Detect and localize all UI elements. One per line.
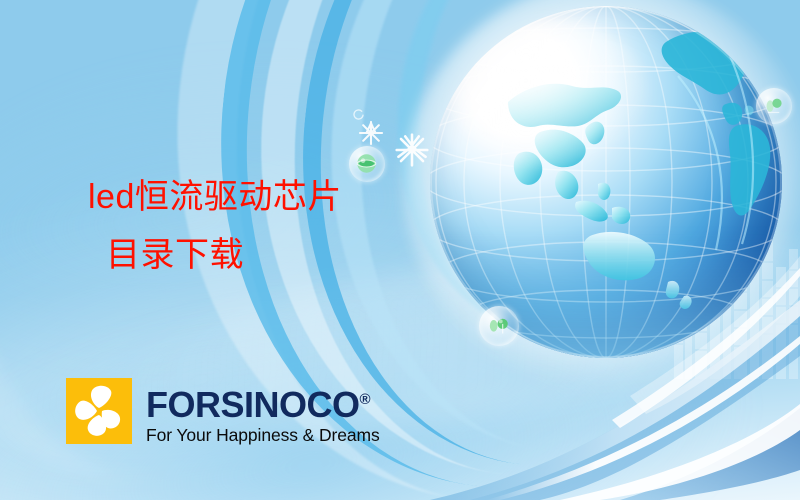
page-title: led恒流驱动芯片 目录下载	[88, 168, 508, 284]
registered-trademark-symbol: ®	[360, 391, 371, 408]
company-name-text: FORSINOCO	[146, 384, 360, 425]
company-logo: FORSINOCO® For Your Happiness & Dreams	[66, 378, 380, 445]
logo-wordmark: FORSINOCO® For Your Happiness & Dreams	[146, 378, 380, 445]
four-petal-pinwheel-icon	[66, 378, 132, 444]
banner-canvas: led恒流驱动芯片 目录下载 FORSINOCO® For Your Happi…	[0, 0, 800, 500]
company-name: FORSINOCO®	[146, 381, 380, 424]
company-tagline: For Your Happiness & Dreams	[146, 425, 380, 445]
headline-line-1: led恒流驱动芯片	[88, 168, 508, 226]
headline-line-2: 目录下载	[88, 226, 508, 284]
